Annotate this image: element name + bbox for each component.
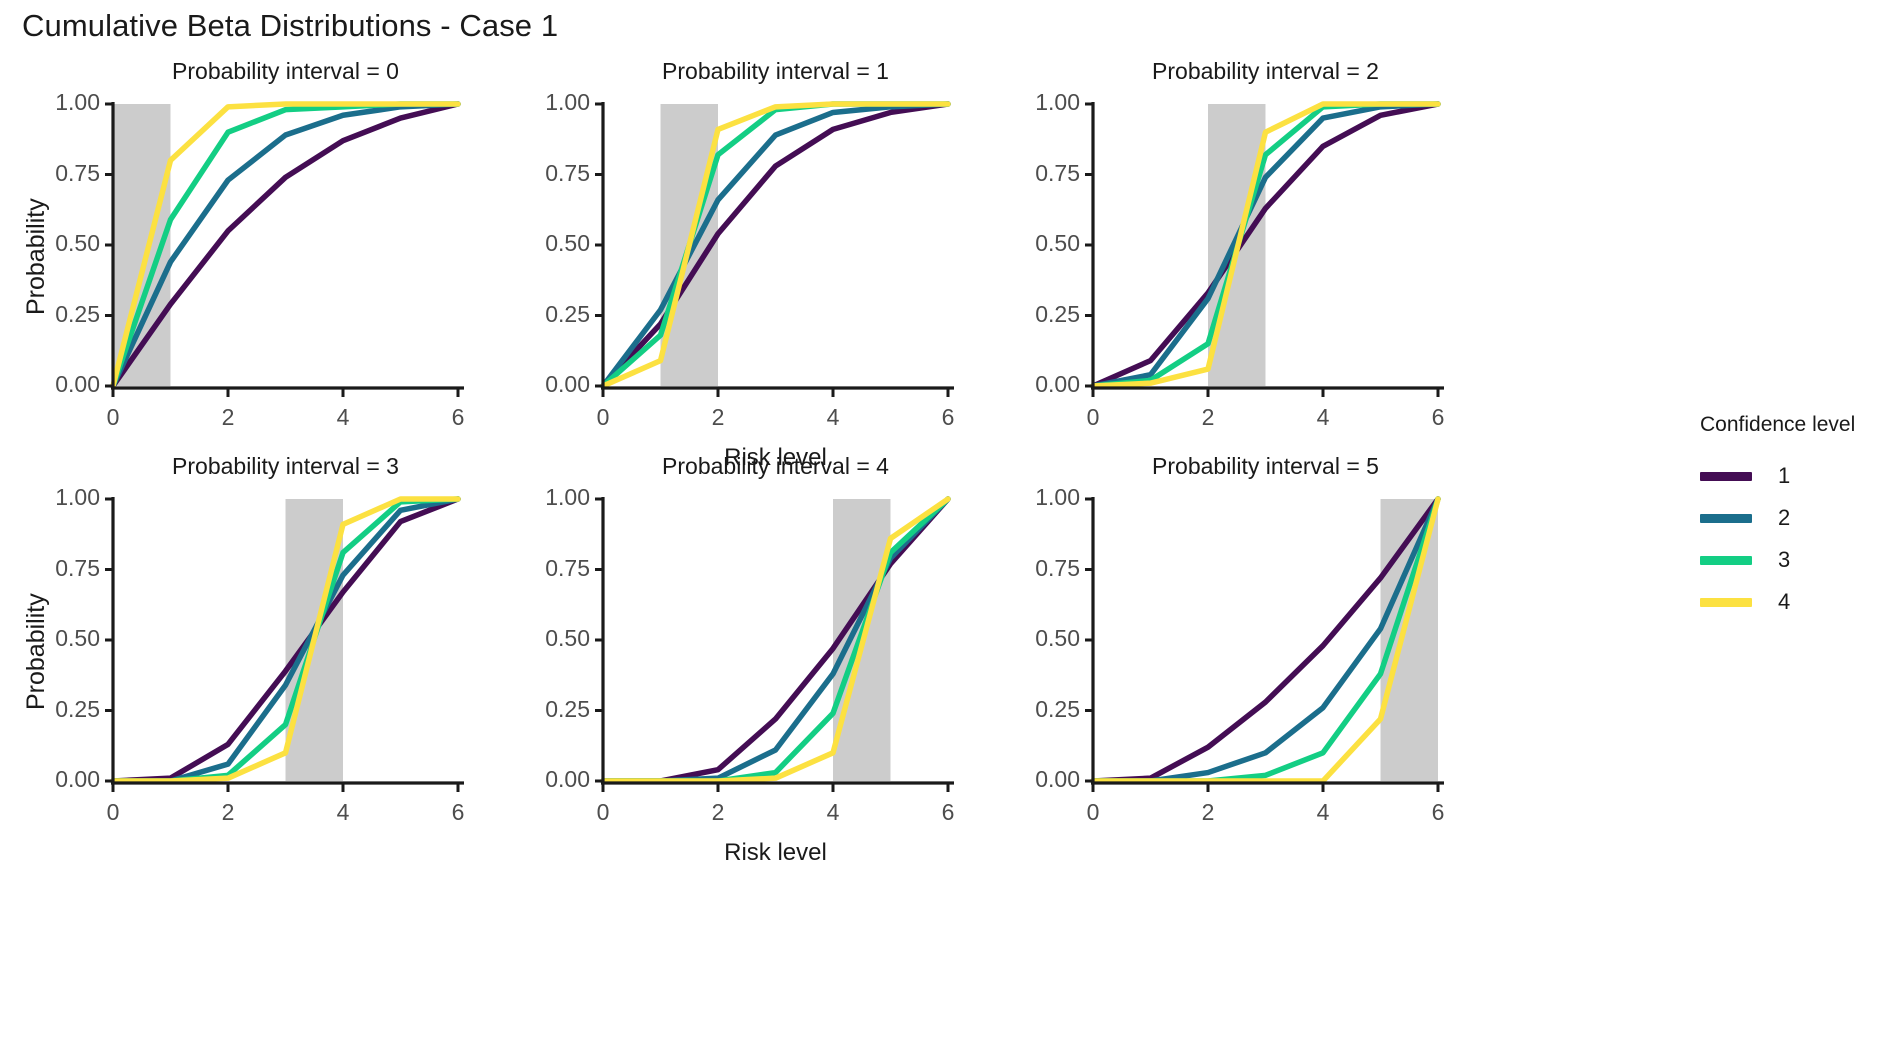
x-axis-tick-label: 2 [198,404,258,431]
series-line-3 [603,499,948,781]
legend-key-icon [1700,514,1752,523]
facet-grid: Probability interval = 00.000.250.500.75… [0,58,1660,1058]
legend-item-label: 4 [1778,589,1790,615]
y-axis-tick-label: 0.50 [985,625,1080,652]
x-axis-tick-label: 0 [573,404,633,431]
x-axis-tick-label: 2 [1178,799,1238,826]
page-title: Cumulative Beta Distributions - Case 1 [22,8,558,44]
y-axis-tick-label: 1.00 [495,89,590,116]
y-axis-tick-label: 0.50 [985,230,1080,257]
y-axis-tick-label: 1.00 [5,89,100,116]
legend-item-label: 3 [1778,547,1790,573]
legend-title: Confidence level [1700,413,1890,437]
y-axis-tick-label: 0.00 [495,371,590,398]
x-axis-title: Risk level [603,839,948,867]
y-axis-tick-label: 1.00 [5,484,100,511]
x-axis-tick-label: 0 [83,799,143,826]
series-line-1 [603,499,948,781]
x-axis-tick-label: 0 [1063,799,1123,826]
legend-item-2[interactable]: 2 [1700,497,1890,539]
x-axis-tick-label: 2 [198,799,258,826]
x-axis-tick-label: 6 [1408,799,1468,826]
legend-item-1[interactable]: 1 [1700,455,1890,497]
x-axis-title: Risk level [603,444,948,472]
x-axis-tick-label: 2 [1178,404,1238,431]
x-axis-tick-label: 2 [688,404,748,431]
facet-panel-2: Probability interval = 20.000.250.500.75… [980,58,1450,448]
y-axis-tick-label: 0.75 [495,160,590,187]
y-axis-tick-label: 0.50 [5,625,100,652]
legend-item-label: 1 [1778,463,1790,489]
legend-item-4[interactable]: 4 [1700,581,1890,623]
legend-item-label: 2 [1778,505,1790,531]
x-axis-tick-label: 4 [803,799,863,826]
y-axis-tick-label: 1.00 [985,89,1080,116]
facet-panel-3: Probability interval = 30.000.250.500.75… [0,453,470,843]
y-axis-title: Probability [22,593,51,710]
legend-key-icon [1700,598,1752,607]
x-axis-tick-label: 0 [573,799,633,826]
legend: Confidence level 1234 [1700,413,1890,623]
y-axis-tick-label: 0.50 [495,230,590,257]
x-axis-tick-label: 6 [1408,404,1468,431]
y-axis-tick-label: 1.00 [985,484,1080,511]
x-axis-tick-label: 6 [428,404,488,431]
series-line-3 [603,104,948,386]
x-axis-tick-label: 6 [918,799,978,826]
y-axis-tick-label: 0.75 [985,160,1080,187]
legend-key-icon [1700,556,1752,565]
y-axis-tick-label: 0.25 [495,696,590,723]
y-axis-tick-label: 0.00 [495,766,590,793]
y-axis-tick-label: 0.25 [5,696,100,723]
x-axis-tick-label: 4 [313,799,373,826]
x-axis-tick-label: 6 [918,404,978,431]
series-line-2 [603,499,948,781]
y-axis-tick-label: 0.75 [495,555,590,582]
legend-key-icon [1700,472,1752,481]
x-axis-tick-label: 6 [428,799,488,826]
x-axis-tick-label: 4 [313,404,373,431]
facet-panel-1: Probability interval = 10.000.250.500.75… [490,58,960,448]
facet-panel-0: Probability interval = 00.000.250.500.75… [0,58,470,448]
y-axis-tick-label: 0.75 [5,160,100,187]
y-axis-tick-label: 0.50 [5,230,100,257]
y-axis-tick-label: 0.00 [5,766,100,793]
y-axis-tick-label: 0.25 [985,301,1080,328]
x-axis-tick-label: 4 [1293,799,1353,826]
y-axis-tick-label: 0.00 [985,371,1080,398]
y-axis-title: Probability [22,198,51,315]
y-axis-tick-label: 0.25 [5,301,100,328]
x-axis-tick-label: 0 [83,404,143,431]
legend-item-3[interactable]: 3 [1700,539,1890,581]
y-axis-tick-label: 0.00 [5,371,100,398]
x-axis-tick-label: 4 [803,404,863,431]
facet-panel-5: Probability interval = 50.000.250.500.75… [980,453,1450,843]
y-axis-tick-label: 1.00 [495,484,590,511]
facet-panel-4: Probability interval = 40.000.250.500.75… [490,453,960,843]
x-axis-tick-label: 4 [1293,404,1353,431]
y-axis-tick-label: 0.25 [985,696,1080,723]
y-axis-tick-label: 0.50 [495,625,590,652]
x-axis-tick-label: 2 [688,799,748,826]
legend-entries: 1234 [1700,455,1890,623]
y-axis-tick-label: 0.00 [985,766,1080,793]
chart-root: Cumulative Beta Distributions - Case 1 P… [0,0,1892,1060]
y-axis-tick-label: 0.75 [985,555,1080,582]
series-line-4 [603,499,948,781]
x-axis-tick-label: 0 [1063,404,1123,431]
y-axis-tick-label: 0.25 [495,301,590,328]
y-axis-tick-label: 0.75 [5,555,100,582]
